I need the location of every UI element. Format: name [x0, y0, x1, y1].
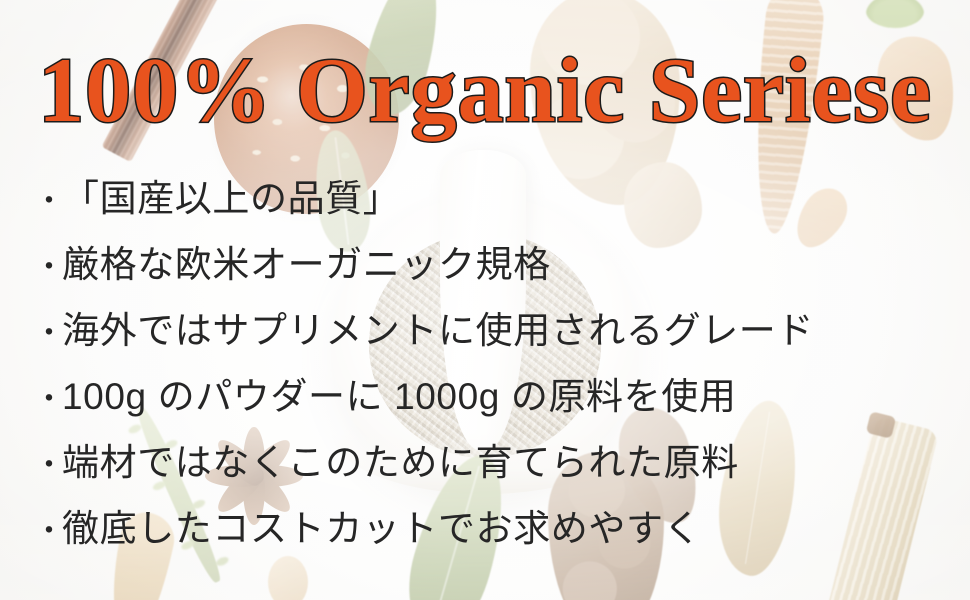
bullet-marker-icon: ・	[34, 367, 62, 433]
list-item: ・ 海外ではサプリメントに使用されるグレード	[34, 298, 950, 364]
bullet-marker-icon: ・	[34, 235, 62, 301]
bullet-marker-icon: ・	[34, 433, 62, 499]
banner-headline: 100% Organic Seriese	[0, 44, 970, 136]
feature-bullet-list: ・ 「国産以上の品質」 ・ 厳格な欧米オーガニック規格 ・ 海外ではサプリメント…	[34, 166, 950, 562]
bullet-text: 厳格な欧米オーガニック規格	[62, 232, 551, 298]
list-item: ・ 端材ではなくこのために育てられた原料	[34, 430, 950, 496]
bullet-marker-icon: ・	[34, 301, 62, 367]
bullet-marker-icon: ・	[34, 499, 62, 565]
bullet-text: 端材ではなくこのために育てられた原料	[62, 430, 739, 496]
bullet-text: 徹底したコストカットでお求めやすく	[62, 496, 701, 562]
bullet-text: 100g のパウダーに 1000g の原料を使用	[62, 364, 736, 430]
list-item: ・ 厳格な欧米オーガニック規格	[34, 232, 950, 298]
bullet-text: 海外ではサプリメントに使用されるグレード	[62, 298, 814, 364]
list-item: ・ 100g のパウダーに 1000g の原料を使用	[34, 364, 950, 430]
bullet-marker-icon: ・	[34, 169, 62, 235]
list-item: ・ 「国産以上の品質」	[34, 166, 950, 232]
banner-content: 100% Organic Seriese ・ 「国産以上の品質」 ・ 厳格な欧米…	[0, 0, 970, 600]
organic-series-banner: 100% Organic Seriese ・ 「国産以上の品質」 ・ 厳格な欧米…	[0, 0, 970, 600]
list-item: ・ 徹底したコストカットでお求めやすく	[34, 496, 950, 562]
bullet-text: 「国産以上の品質」	[62, 166, 400, 232]
